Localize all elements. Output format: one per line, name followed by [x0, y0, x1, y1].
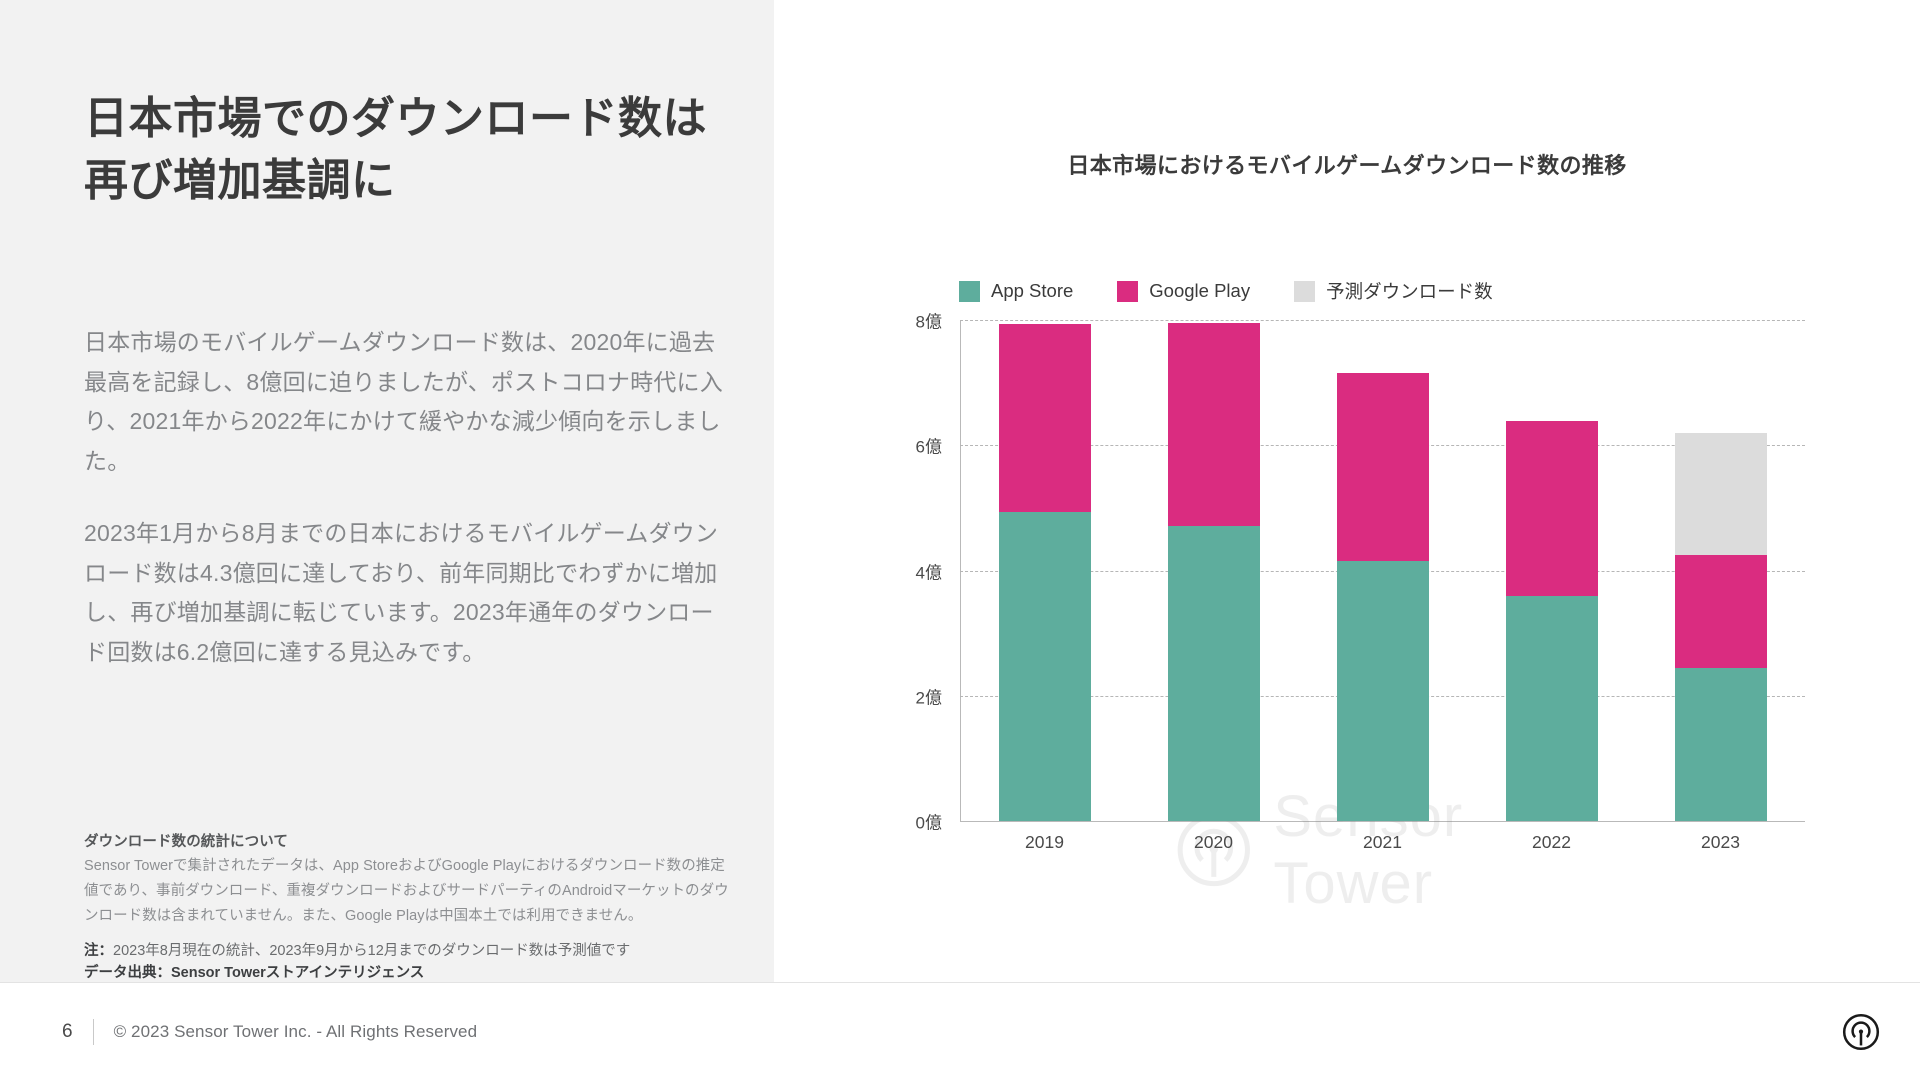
- footnote-block: ダウンロード数の統計について Sensor Towerで集計されたデータは、Ap…: [84, 832, 739, 929]
- y-tick-label: 0億: [916, 809, 942, 834]
- page-title: 日本市場でのダウンロード数は再び増加基調に: [84, 88, 744, 213]
- footer-divider: [93, 1019, 94, 1045]
- bar-segment-app-store[interactable]: [1675, 668, 1767, 821]
- plot-area: Sensor Tower: [960, 320, 1805, 822]
- legend-label: 予測ダウンロード数: [1326, 278, 1493, 304]
- x-axis-labels: 20192020202120222023: [960, 832, 1805, 853]
- paragraph-2: 2023年1月から8月までの日本におけるモバイルゲームダウンロード数は4.3億回…: [84, 514, 734, 672]
- bar-segment-app-store[interactable]: [1168, 526, 1260, 821]
- copyright-text: © 2023 Sensor Tower Inc. - All Rights Re…: [114, 1022, 478, 1042]
- legend-item-2[interactable]: 予測ダウンロード数: [1294, 278, 1493, 304]
- y-axis-labels: 0億2億4億6億8億: [890, 320, 952, 822]
- x-tick-label-2022: 2022: [1467, 832, 1636, 853]
- bar-segment-app-store[interactable]: [999, 512, 1091, 821]
- bar-stack: [1506, 421, 1598, 821]
- note-block: 注：2023年8月現在の統計、2023年9月から12月までのダウンロード数は予測…: [84, 940, 739, 985]
- y-tick-label: 6億: [916, 433, 942, 458]
- bar-group-2021[interactable]: [1298, 320, 1467, 821]
- y-tick-label: 2億: [916, 683, 942, 708]
- paragraph-1: 日本市場のモバイルゲームダウンロード数は、2020年に過去最高を記録し、8億回に…: [84, 323, 734, 481]
- footnote-heading: ダウンロード数の統計について: [84, 832, 739, 854]
- x-tick-label-2020: 2020: [1129, 832, 1298, 853]
- bar-group-2022[interactable]: [1467, 320, 1636, 821]
- bar-group-2020[interactable]: [1129, 320, 1298, 821]
- bar-stack: [1675, 433, 1767, 821]
- bar-stack: [1168, 323, 1260, 821]
- x-axis-line: [960, 821, 1805, 822]
- sensor-tower-logo-icon: [1840, 1011, 1882, 1053]
- legend-label: Google Play: [1149, 280, 1250, 302]
- source-text: Sensor Towerストアインテリジェンス: [171, 965, 424, 981]
- legend-item-1[interactable]: Google Play: [1117, 280, 1250, 302]
- chart-legend: App StoreGoogle Play予測ダウンロード数: [959, 278, 1493, 304]
- x-tick-label-2021: 2021: [1298, 832, 1467, 853]
- footnote-body: Sensor Towerで集計されたデータは、App StoreおよびGoogl…: [84, 854, 739, 929]
- bar-group-2023[interactable]: [1636, 320, 1805, 821]
- bar-group-2019[interactable]: [960, 320, 1129, 821]
- legend-item-0[interactable]: App Store: [959, 280, 1073, 302]
- bar-segment-app-store[interactable]: [1506, 596, 1598, 821]
- chart-title: 日本市場におけるモバイルゲームダウンロード数の推移: [774, 148, 1920, 180]
- footer-left: 6 © 2023 Sensor Tower Inc. - All Rights …: [62, 1019, 477, 1045]
- page-number: 6: [62, 1021, 73, 1043]
- y-tick-label: 8億: [916, 308, 942, 333]
- bar-segment-google-play[interactable]: [1675, 555, 1767, 668]
- x-tick-label-2019: 2019: [960, 832, 1129, 853]
- page-footer: 6 © 2023 Sensor Tower Inc. - All Rights …: [0, 982, 1920, 1080]
- bar-segment-google-play[interactable]: [1168, 323, 1260, 526]
- legend-swatch-icon: [1294, 281, 1315, 302]
- bar-series-container: [960, 320, 1805, 821]
- bar-segment-予測ダウンロード数[interactable]: [1675, 433, 1767, 555]
- chart-panel: 日本市場におけるモバイルゲームダウンロード数の推移 App StoreGoogl…: [774, 0, 1920, 982]
- left-text-panel: 日本市場でのダウンロード数は再び増加基調に 日本市場のモバイルゲームダウンロード…: [0, 0, 774, 982]
- legend-swatch-icon: [1117, 281, 1138, 302]
- bar-segment-google-play[interactable]: [999, 324, 1091, 511]
- bar-segment-google-play[interactable]: [1506, 421, 1598, 595]
- bar-stack: [1337, 373, 1429, 821]
- bar-stack: [999, 324, 1091, 821]
- x-tick-label-2023: 2023: [1636, 832, 1805, 853]
- legend-label: App Store: [991, 280, 1073, 302]
- y-tick-label: 4億: [916, 558, 942, 583]
- source-label: データ出典：: [84, 965, 171, 981]
- legend-swatch-icon: [959, 281, 980, 302]
- bar-segment-app-store[interactable]: [1337, 561, 1429, 821]
- note-label: 注：: [84, 943, 113, 959]
- body-copy: 日本市場のモバイルゲームダウンロード数は、2020年に過去最高を記録し、8億回に…: [84, 323, 734, 672]
- note-line: 注：2023年8月現在の統計、2023年9月から12月までのダウンロード数は予測…: [84, 940, 739, 962]
- note-text: 2023年8月現在の統計、2023年9月から12月までのダウンロード数は予測値で…: [113, 943, 630, 959]
- bar-segment-google-play[interactable]: [1337, 373, 1429, 561]
